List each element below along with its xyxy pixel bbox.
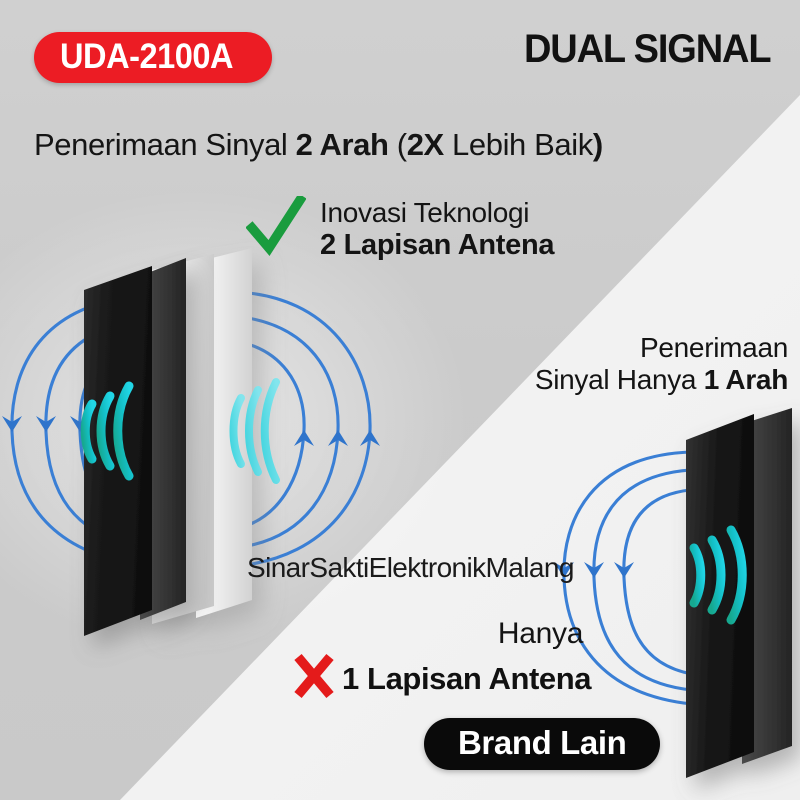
brand-badge-label: Brand Lain <box>458 726 626 759</box>
headline-bold1: 2 Arah <box>296 127 389 162</box>
headline: Penerimaan Sinyal 2 Arah (2X Lebih Baik) <box>34 128 603 163</box>
watermark: SinarSaktiElektronikMalang <box>247 552 574 584</box>
right-copy-line2-normal: Sinyal Hanya <box>535 364 704 395</box>
poster-canvas: UDA-2100A DUAL SIGNAL Penerimaan Sinyal … <box>0 0 800 800</box>
cross-icon <box>292 652 336 705</box>
headline-part2: ( <box>389 127 407 162</box>
feature-bad: Hanya 1 Lapisan Antena <box>292 618 591 705</box>
feature-good: Inovasi Teknologi 2 Lapisan Antena <box>246 196 554 263</box>
model-badge-label: UDA-2100A <box>60 39 233 74</box>
feature-good-line1: Inovasi Teknologi <box>320 197 529 228</box>
feature-good-line2: 2 Lapisan Antena <box>320 229 554 261</box>
headline-part3: Lebih Baik <box>444 127 593 162</box>
model-badge[interactable]: UDA-2100A <box>34 32 272 83</box>
feature-bad-line2: 1 Lapisan Antena <box>342 662 591 695</box>
headline-part1: Penerimaan Sinyal <box>34 127 296 162</box>
headline-bold2: 2X <box>407 127 444 162</box>
feature-good-text: Inovasi Teknologi 2 Lapisan Antena <box>320 197 554 262</box>
brand-badge[interactable]: Brand Lain <box>424 718 660 770</box>
headline-bold3: ) <box>593 127 603 162</box>
check-icon <box>246 196 306 263</box>
right-copy-line2-bold: 1 Arah <box>704 364 788 395</box>
right-copy: Penerimaan Sinyal Hanya 1 Arah <box>535 332 788 397</box>
feature-bad-line1: Hanya <box>292 618 591 650</box>
right-copy-line1: Penerimaan <box>640 332 788 363</box>
page-title: DUAL SIGNAL <box>524 28 770 70</box>
